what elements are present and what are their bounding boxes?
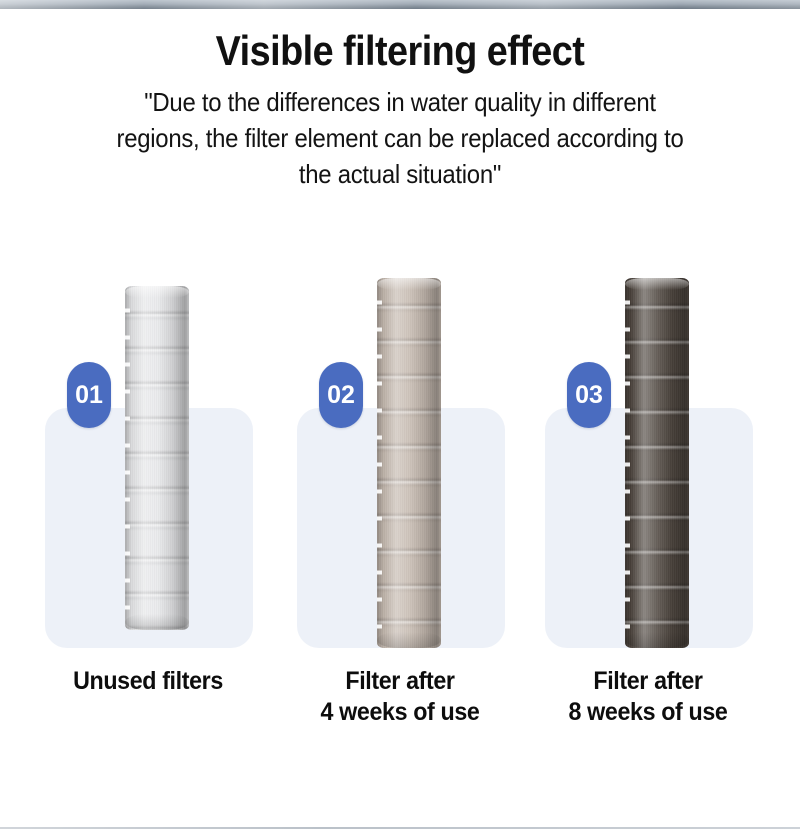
filter-cylinder-shading-1 (125, 286, 189, 630)
caption-line-2a: Filter after (283, 666, 517, 697)
step-badge-2: 02 (319, 362, 363, 428)
comparison-column-3: 03 Filter after 8 weeks of use (522, 300, 774, 760)
filter-image-1 (125, 286, 189, 630)
filter-caption-3: Filter after 8 weeks of use (531, 666, 765, 727)
filter-image-3 (625, 278, 689, 648)
filter-image-2 (377, 278, 441, 648)
heading-block: Visible filtering effect "Due to the dif… (0, 28, 800, 193)
filter-edge-nicks-2 (377, 278, 382, 648)
page-title: Visible filtering effect (40, 28, 760, 73)
filter-bottom-cap-2 (377, 632, 441, 648)
subtitle-line-2: regions, the filter element can be repla… (78, 121, 722, 157)
filter-caption-1: Unused filters (31, 666, 265, 697)
caption-line-3a: Filter after (531, 666, 765, 697)
page-subtitle: "Due to the differences in water quality… (78, 85, 722, 193)
filter-caption-2: Filter after 4 weeks of use (283, 666, 517, 727)
filter-top-cap-2 (377, 278, 441, 290)
filter-top-cap-1 (125, 286, 189, 298)
filter-bottom-cap-3 (625, 632, 689, 648)
caption-line-3b: 8 weeks of use (531, 697, 765, 728)
subtitle-line-1: "Due to the differences in water quality… (78, 85, 722, 121)
filter-cylinder-shading-3 (625, 278, 689, 648)
comparison-columns: 01 Unused filters 02 Filter after 4 week… (0, 300, 800, 760)
filter-cylinder-shading-2 (377, 278, 441, 648)
filter-edge-nicks-3 (625, 278, 630, 648)
step-badge-1: 01 (67, 362, 111, 428)
filter-edge-nicks-1 (125, 286, 130, 630)
strip-sheen (0, 0, 800, 9)
comparison-column-2: 02 Filter after 4 weeks of use (274, 300, 526, 760)
caption-line-2b: 4 weeks of use (283, 697, 517, 728)
comparison-column-1: 01 Unused filters (22, 300, 274, 760)
subtitle-line-3: the actual situation" (78, 157, 722, 193)
caption-line-1a: Unused filters (31, 666, 265, 697)
filter-top-cap-3 (625, 278, 689, 290)
step-badge-3: 03 (567, 362, 611, 428)
top-image-seam-strip (0, 0, 800, 9)
filter-bottom-cap-1 (125, 614, 189, 630)
